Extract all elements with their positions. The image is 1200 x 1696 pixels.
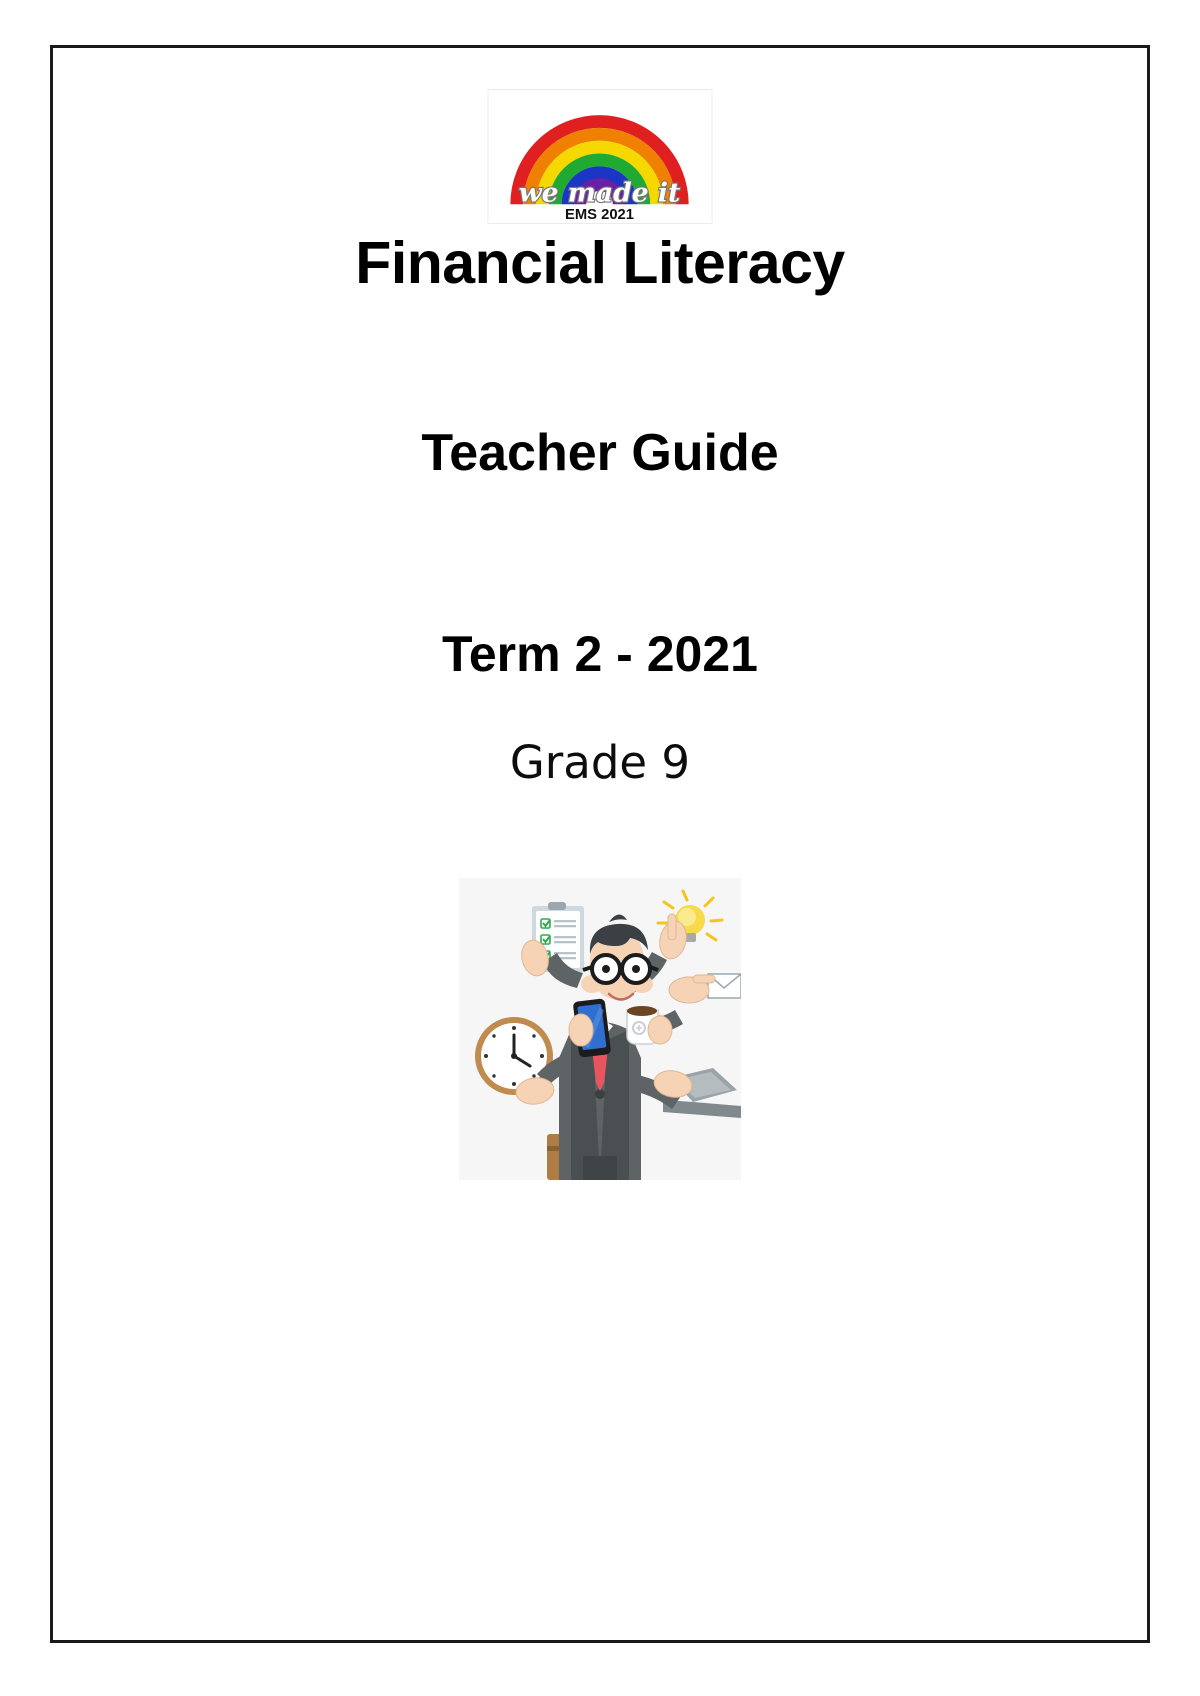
- cover-illustration: [459, 878, 741, 1180]
- grade-heading: Grade 9: [53, 738, 1147, 788]
- term-heading: Term 2 - 2021: [53, 628, 1147, 681]
- multitasking-businessman-graphic: [459, 878, 741, 1180]
- school-logo: we made it EMS 2021: [488, 89, 713, 224]
- pointing-finger-right: [693, 975, 715, 983]
- logo-script-text: we made it: [519, 177, 681, 208]
- page-content: we made it EMS 2021 Financial Literacy T…: [53, 48, 1147, 1640]
- hand-holding-cup: [648, 1016, 672, 1044]
- pointing-finger: [668, 914, 676, 940]
- document-page: we made it EMS 2021 Financial Literacy T…: [50, 45, 1150, 1643]
- rainbow-logo-graphic: we made it EMS 2021: [489, 90, 712, 223]
- page-subtitle: Teacher Guide: [53, 426, 1147, 481]
- logo-subtitle-text: EMS 2021: [565, 207, 634, 223]
- hand-holding-phone: [569, 1014, 593, 1046]
- page-title: Financial Literacy: [53, 233, 1147, 295]
